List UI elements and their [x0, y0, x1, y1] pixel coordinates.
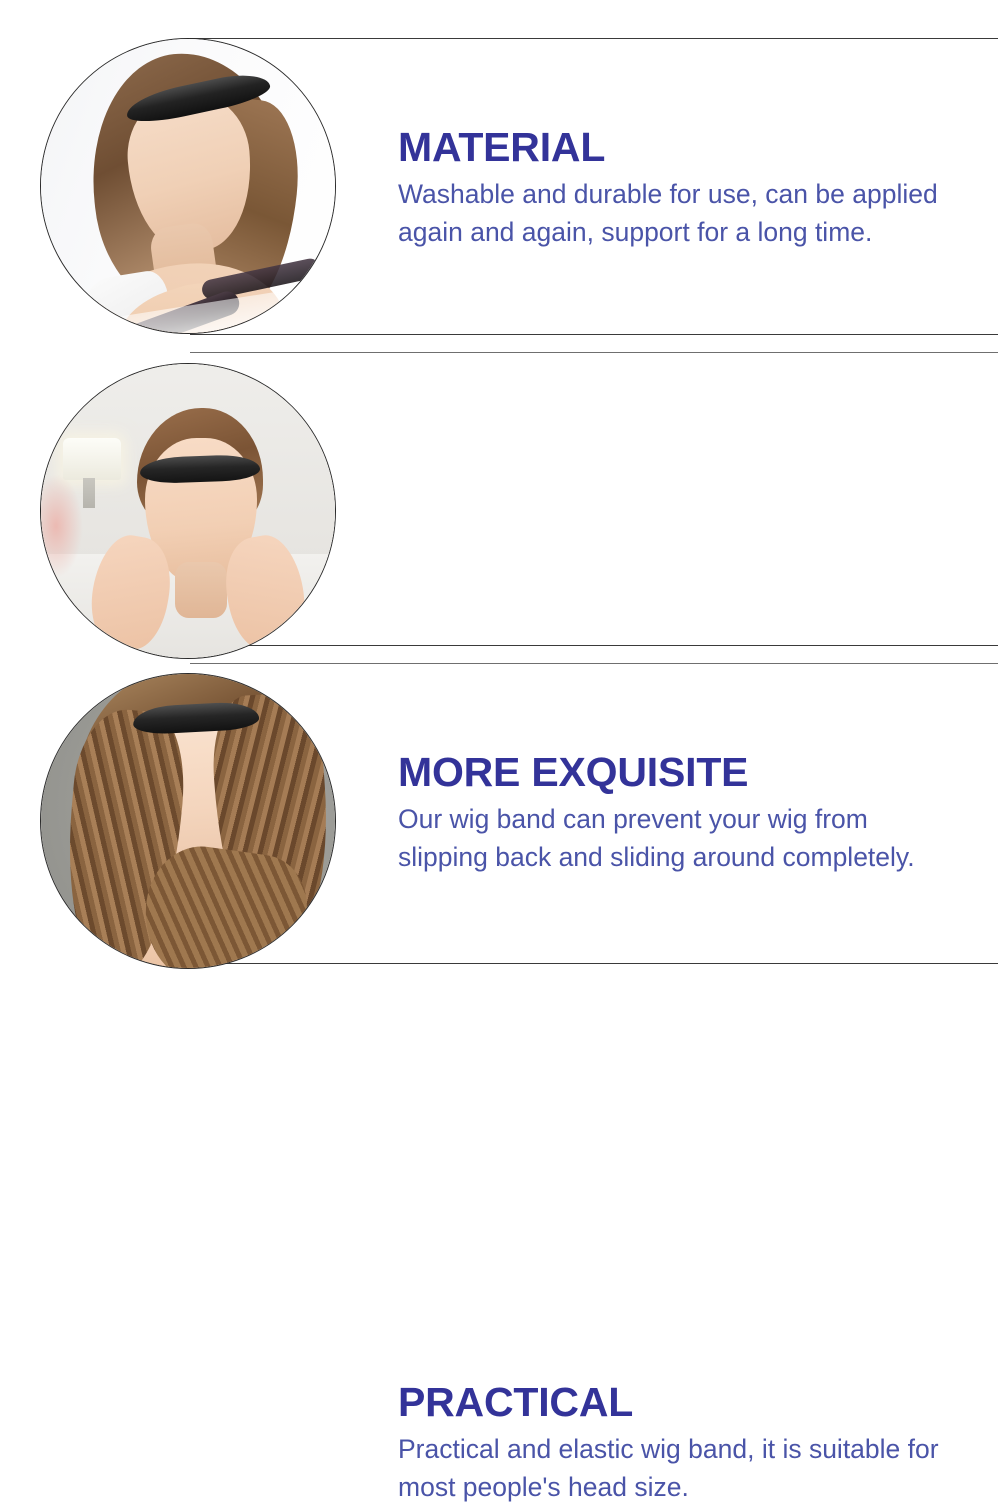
- feature-copy-material: MATERIAL Washable and durable for use, c…: [398, 125, 958, 251]
- photo-scene-material: [41, 39, 335, 333]
- neck-shape: [175, 562, 227, 618]
- photo-scene-practical: [41, 674, 335, 968]
- feature-copy-practical: PRACTICAL Practical and elastic wig band…: [398, 1380, 958, 1506]
- divider-1-lower: [190, 352, 998, 353]
- feature-image-material: [40, 38, 336, 334]
- feature-image-practical: [40, 673, 336, 969]
- feature-headline: MATERIAL: [398, 125, 958, 170]
- product-feature-infographic: { "page": { "background_color": "#ffffff…: [0, 0, 1000, 1000]
- photo-scene-more-exquisite: [41, 364, 335, 658]
- feature-body: Washable and durable for use, can be app…: [398, 176, 958, 251]
- feature-block-more-exquisite: MORE EXQUISITE Our wig band can prevent …: [0, 355, 1000, 665]
- feature-image-more-exquisite: [40, 363, 336, 659]
- feature-body: Practical and elastic wig band, it is su…: [398, 1431, 958, 1506]
- lamp-stem-shape: [83, 478, 95, 508]
- feature-block-material: MATERIAL Washable and durable for use, c…: [0, 30, 1000, 340]
- blur-accent: [40, 474, 83, 578]
- feature-block-practical: PRACTICAL Practical and elastic wig band…: [0, 665, 1000, 975]
- feature-headline: PRACTICAL: [398, 1380, 958, 1425]
